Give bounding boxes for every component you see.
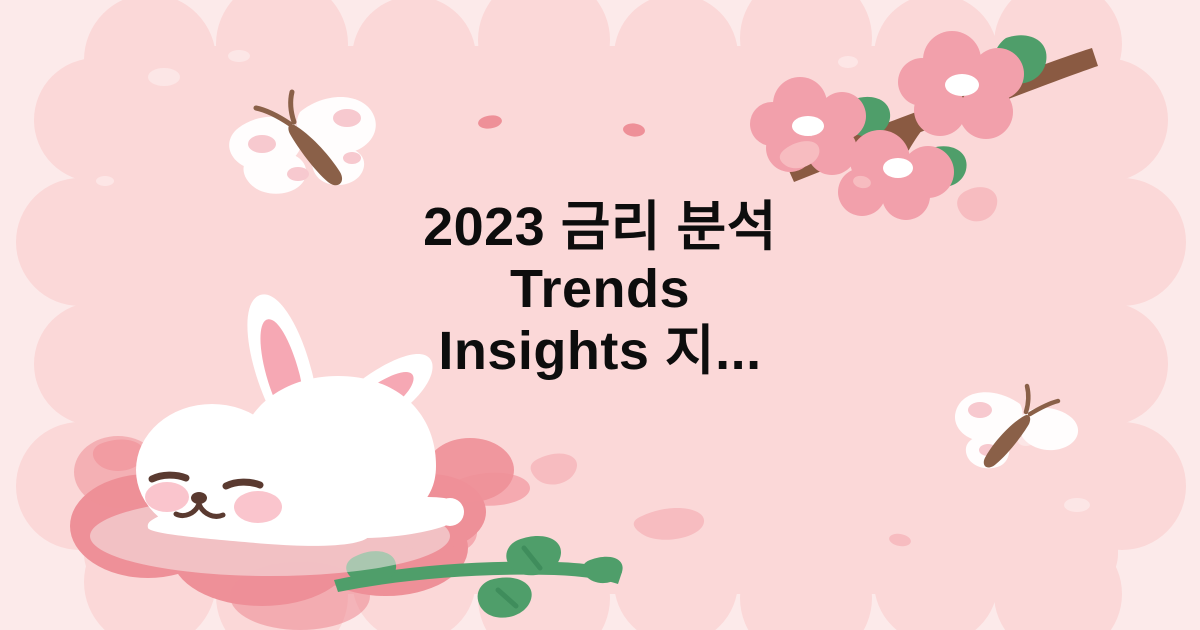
rabbit-cheek-left bbox=[145, 482, 189, 512]
butterfly-spot bbox=[248, 135, 276, 153]
rabbit-cheek-right bbox=[234, 491, 282, 523]
butterfly-spot bbox=[968, 402, 992, 418]
decorative-artwork bbox=[0, 0, 1200, 630]
poster-card: 2023 금리 분석 Trends Insights 지... bbox=[0, 0, 1200, 630]
rabbit-eye-left bbox=[152, 475, 186, 479]
butterfly-spot bbox=[333, 109, 361, 127]
butterfly-spot bbox=[343, 152, 361, 164]
butterfly-antenna bbox=[1026, 386, 1028, 412]
rabbit-foot bbox=[436, 498, 464, 526]
butterfly-spot bbox=[287, 167, 309, 181]
rabbit-eye-right bbox=[226, 482, 260, 486]
rabbit-tail bbox=[353, 481, 391, 519]
